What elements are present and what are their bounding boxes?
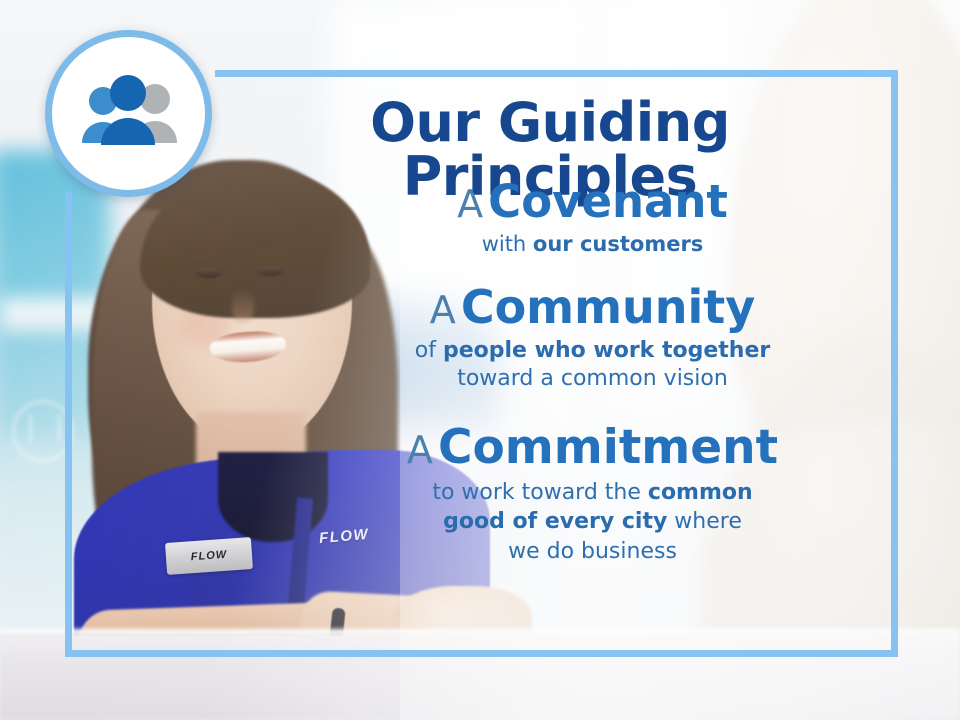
principle-subtext: of people who work togethertoward a comm… xyxy=(300,337,885,393)
principle-subtext: to work toward the commongood of every c… xyxy=(300,478,885,566)
frame-left-edge xyxy=(65,192,72,657)
frame-top-edge xyxy=(215,70,898,77)
principle-word: Commitment xyxy=(438,420,778,475)
people-group-icon xyxy=(77,75,181,153)
principle-commitment: A Commitment to work toward the commongo… xyxy=(300,423,885,566)
principles-list: A Covenant with our customers A Communit… xyxy=(300,178,885,572)
principle-heading: A Covenant xyxy=(300,178,885,227)
principle-article: A xyxy=(457,182,483,226)
principle-word: Covenant xyxy=(488,175,728,228)
principle-article: A xyxy=(430,288,456,332)
principle-heading: A Community xyxy=(300,283,885,333)
banner-stage: FLOW FLOW xyxy=(0,0,960,720)
principle-covenant: A Covenant with our customers xyxy=(300,178,885,257)
principle-article: A xyxy=(407,428,433,472)
principle-community: A Community of people who work togethert… xyxy=(300,283,885,393)
frame-right-edge xyxy=(891,70,898,657)
people-badge xyxy=(45,30,212,197)
frame-bottom-edge xyxy=(65,650,898,657)
principle-subtext: with our customers xyxy=(300,231,885,258)
principle-word: Community xyxy=(461,280,755,334)
principle-heading: A Commitment xyxy=(300,423,885,474)
